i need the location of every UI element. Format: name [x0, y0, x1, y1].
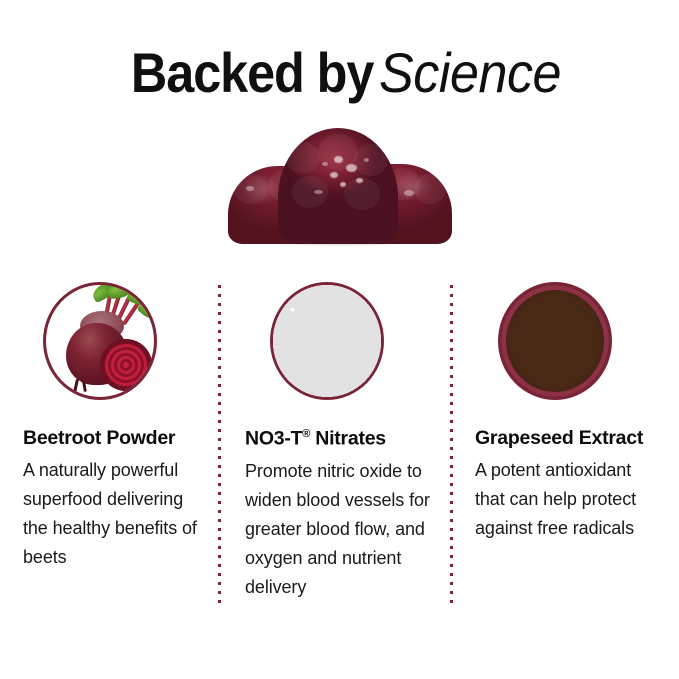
heading-text-no3t: NO3-T — [245, 428, 302, 450]
column-divider-1 — [218, 285, 221, 603]
nitrate-powder-image — [270, 282, 384, 400]
page-title-bold: Backed by — [131, 40, 373, 105]
page-title: Backed byScience — [0, 40, 679, 105]
bowl-rim — [501, 285, 609, 397]
ingredient-body-beetroot: A naturally powerful superfood deliverin… — [23, 456, 203, 572]
ingredient-body-grapeseed: A potent antioxidant that can help prote… — [475, 456, 661, 543]
beetroot-image — [43, 282, 157, 400]
registered-trademark-icon: ® — [302, 428, 310, 440]
gummy-center — [278, 128, 398, 244]
ingredient-heading-beetroot: Beetroot Powder — [23, 428, 203, 449]
page-title-italic: Science — [379, 40, 561, 105]
column-divider-2 — [450, 285, 453, 603]
ingredient-heading-grapeseed: Grapeseed Extract — [475, 428, 661, 449]
ingredient-heading-nitrates: NO3-T® Nitrates — [245, 428, 441, 450]
powder-texture — [273, 285, 381, 397]
heading-text-nitrates: Nitrates — [310, 428, 386, 450]
ingredient-column-beetroot: Beetroot Powder A naturally powerful sup… — [23, 282, 203, 572]
ingredient-column-nitrates: NO3-T® Nitrates Promote nitric oxide to … — [245, 282, 441, 602]
beet-gummies-image — [228, 128, 452, 246]
grapeseed-image — [498, 282, 612, 400]
ingredient-column-grapeseed: Grapeseed Extract A potent antioxidant t… — [475, 282, 661, 543]
ingredient-body-nitrates: Promote nitric oxide to widen blood vess… — [245, 457, 441, 602]
